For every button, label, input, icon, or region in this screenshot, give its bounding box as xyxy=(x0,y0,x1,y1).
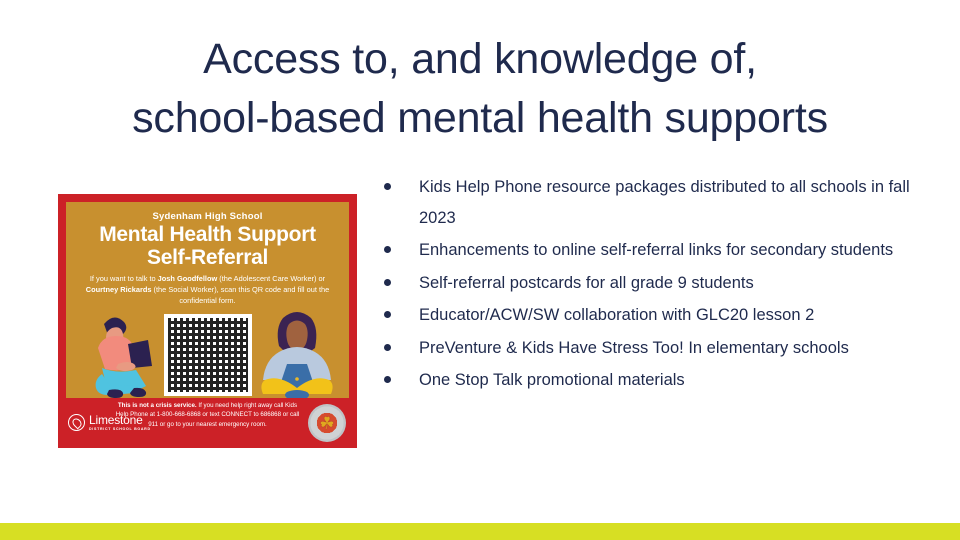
poster-school-name: Sydenham High School xyxy=(66,202,349,222)
maple-leaf-icon: ☘ xyxy=(319,415,334,432)
poster-heading-line1: Mental Health Support xyxy=(66,224,349,247)
mental-health-poster-image: Sydenham High School Mental Health Suppo… xyxy=(58,194,357,448)
list-item: Kids Help Phone resource packages distri… xyxy=(384,172,914,233)
list-item: Enhancements to online self-referral lin… xyxy=(384,235,914,266)
list-item: One Stop Talk promotional materials xyxy=(384,365,914,396)
list-item-text: Self-referral postcards for all grade 9 … xyxy=(419,268,914,299)
limestone-wordmark: Limestone DISTRICT SCHOOL BOARD xyxy=(89,414,151,431)
bullet-point-icon xyxy=(384,365,419,383)
poster-body-post: (the Social Worker), scan this QR code a… xyxy=(151,285,329,305)
bullet-point-icon xyxy=(384,172,419,190)
poster-footer: This is not a crisis service. If you nee… xyxy=(66,398,349,448)
list-item-text: PreVenture & Kids Have Stress Too! In el… xyxy=(419,333,914,364)
bullet-point-icon xyxy=(384,268,419,286)
qr-code[interactable] xyxy=(164,314,252,396)
limestone-logo-subtitle: DISTRICT SCHOOL BOARD xyxy=(89,428,151,432)
page-title: Access to, and knowledge of, school-base… xyxy=(60,30,900,149)
school-crest-icon: ☘ xyxy=(308,404,346,442)
list-item-text: Educator/ACW/SW collaboration with GLC20… xyxy=(419,300,914,331)
poster-contact-name-1: Josh Goodfellow xyxy=(158,274,218,283)
list-item-text: Kids Help Phone resource packages distri… xyxy=(419,172,914,233)
poster-heading-line2: Self-Referral xyxy=(66,247,349,270)
list-item-text: One Stop Talk promotional materials xyxy=(419,365,914,396)
poster-body-text: If you want to talk to Josh Goodfellow (… xyxy=(66,269,349,306)
person-with-laptop-right-illustration xyxy=(257,306,337,398)
bullet-point-icon xyxy=(384,235,419,253)
poster-illustration-strip xyxy=(66,306,349,398)
list-item: Educator/ACW/SW collaboration with GLC20… xyxy=(384,300,914,331)
qr-code-pattern xyxy=(168,318,248,392)
poster-body-pre: If you want to talk to xyxy=(90,274,158,283)
slide-canvas: Access to, and knowledge of, school-base… xyxy=(0,0,960,540)
person-with-laptop-left-illustration xyxy=(82,308,154,398)
bullet-list: Kids Help Phone resource packages distri… xyxy=(384,172,914,398)
poster-gold-panel: Sydenham High School Mental Health Suppo… xyxy=(66,202,349,398)
bullet-point-icon xyxy=(384,333,419,351)
limestone-district-school-board-logo: Limestone DISTRICT SCHOOL BOARD xyxy=(68,414,151,431)
limestone-mark-icon xyxy=(68,414,85,431)
poster-crisis-notice-bold: This is not a crisis service. xyxy=(118,402,197,409)
bottom-accent-bar xyxy=(0,523,960,540)
limestone-logo-name: Limestone xyxy=(89,414,151,426)
list-item: Self-referral postcards for all grade 9 … xyxy=(384,268,914,299)
poster-contact-name-2: Courtney Rickards xyxy=(86,285,152,294)
list-item: PreVenture & Kids Have Stress Too! In el… xyxy=(384,333,914,364)
bullet-point-icon xyxy=(384,300,419,318)
list-item-text: Enhancements to online self-referral lin… xyxy=(419,235,914,266)
poster-body-mid: (the Adolescent Care Worker) or xyxy=(217,274,325,283)
